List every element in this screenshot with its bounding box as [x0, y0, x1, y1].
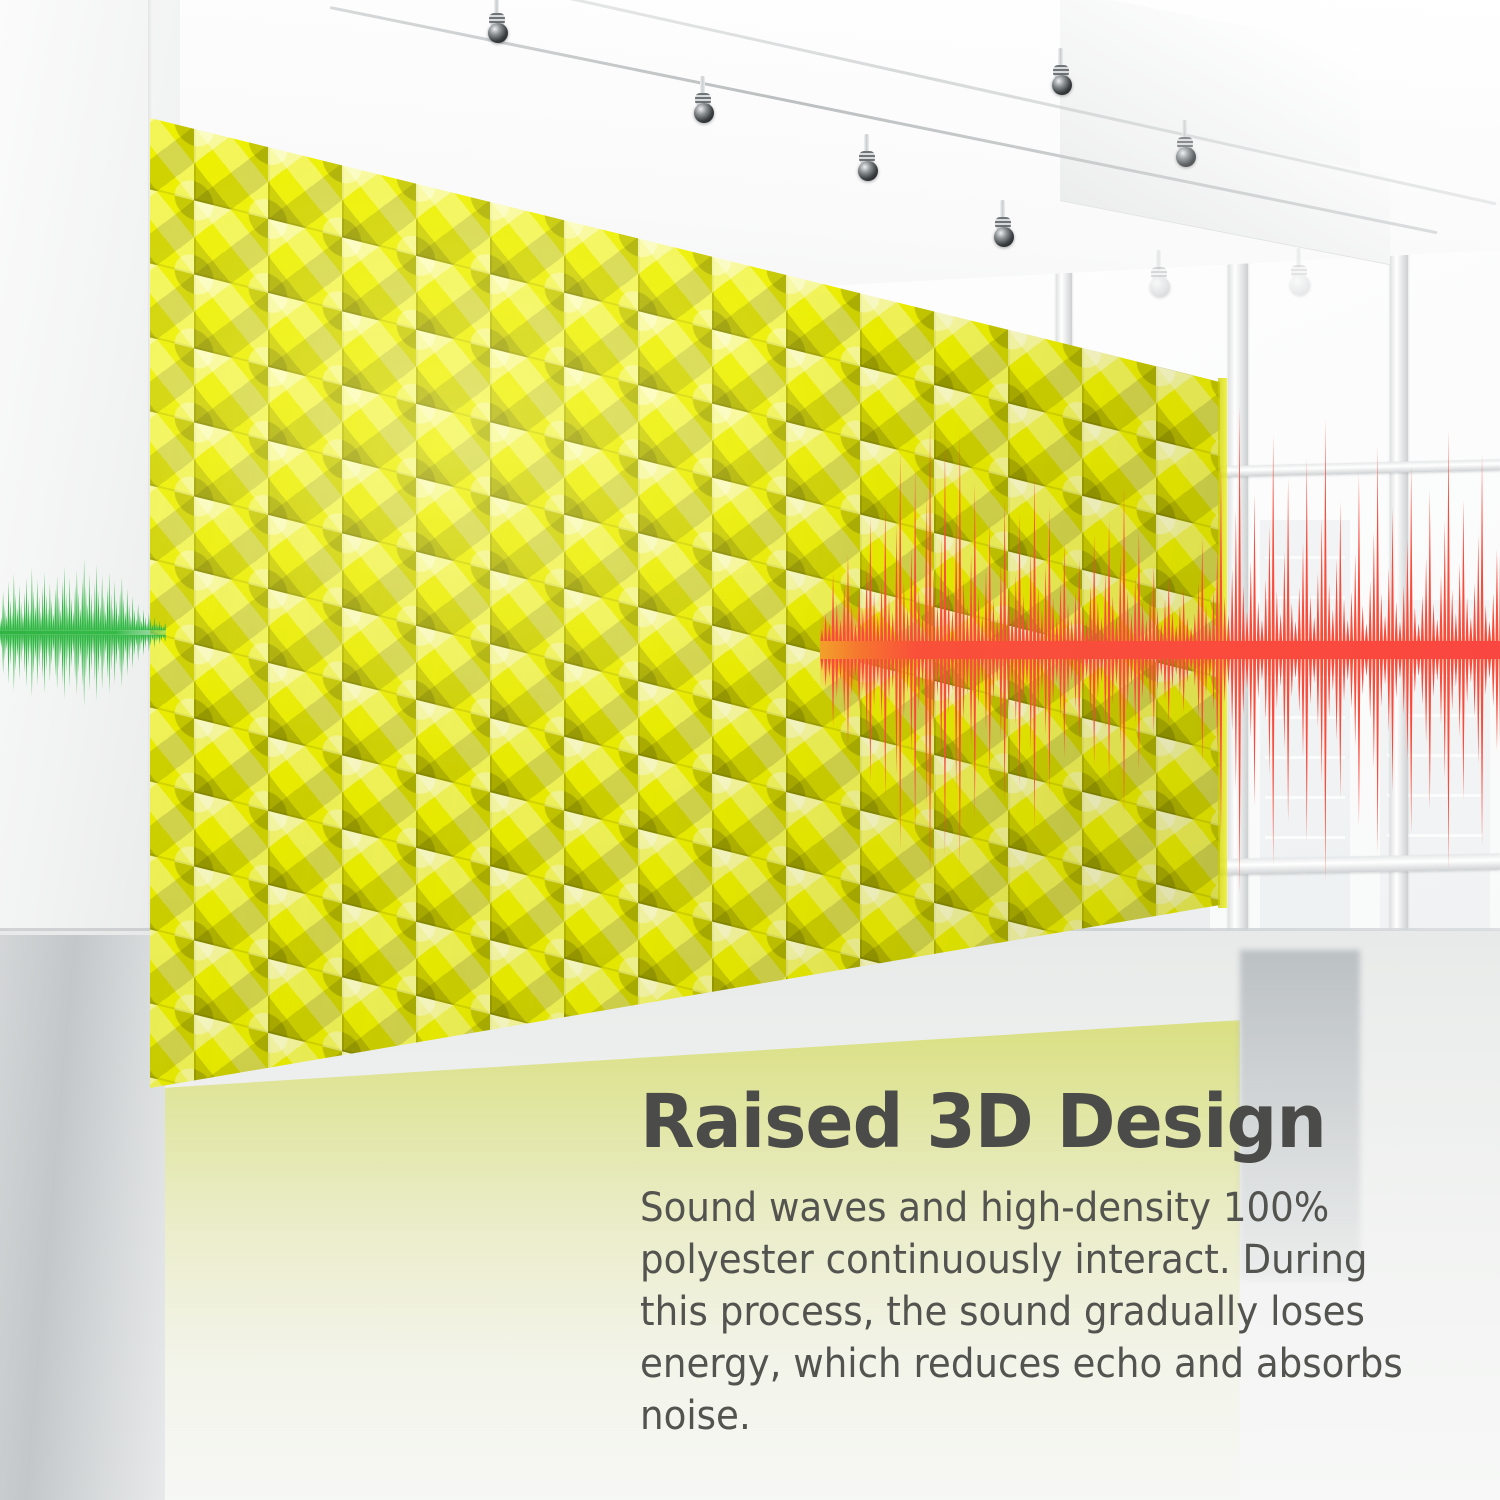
headline: Raised 3D Design	[640, 1085, 1446, 1160]
body-copy: Sound waves and high-density 100% polyes…	[640, 1182, 1421, 1442]
incoming-sound-wave	[820, 400, 1500, 900]
caption-block: Raised 3D Design Sound waves and high-de…	[640, 1085, 1480, 1442]
left-wall-base	[0, 935, 165, 1500]
absorbed-sound-wave	[0, 545, 166, 720]
product-showcase-image: Raised 3D Design Sound waves and high-de…	[0, 0, 1500, 1500]
